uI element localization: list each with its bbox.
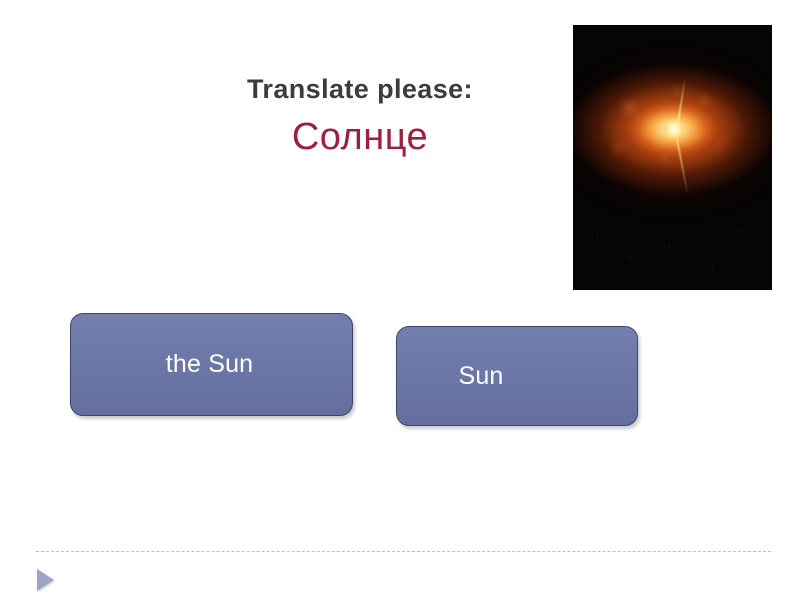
sun-photo	[573, 25, 772, 290]
slide-canvas: Translate please: Солнце the Sun Sun	[0, 0, 800, 600]
sun-star-specks-icon	[573, 25, 772, 290]
footer-divider	[36, 551, 771, 552]
play-triangle-icon[interactable]	[37, 569, 54, 591]
answer-button-the-sun[interactable]: the Sun	[70, 313, 353, 416]
answer-button-sun[interactable]: Sun	[396, 326, 638, 426]
answer-button-label: Sun	[397, 362, 637, 391]
answer-button-label: the Sun	[71, 350, 352, 379]
